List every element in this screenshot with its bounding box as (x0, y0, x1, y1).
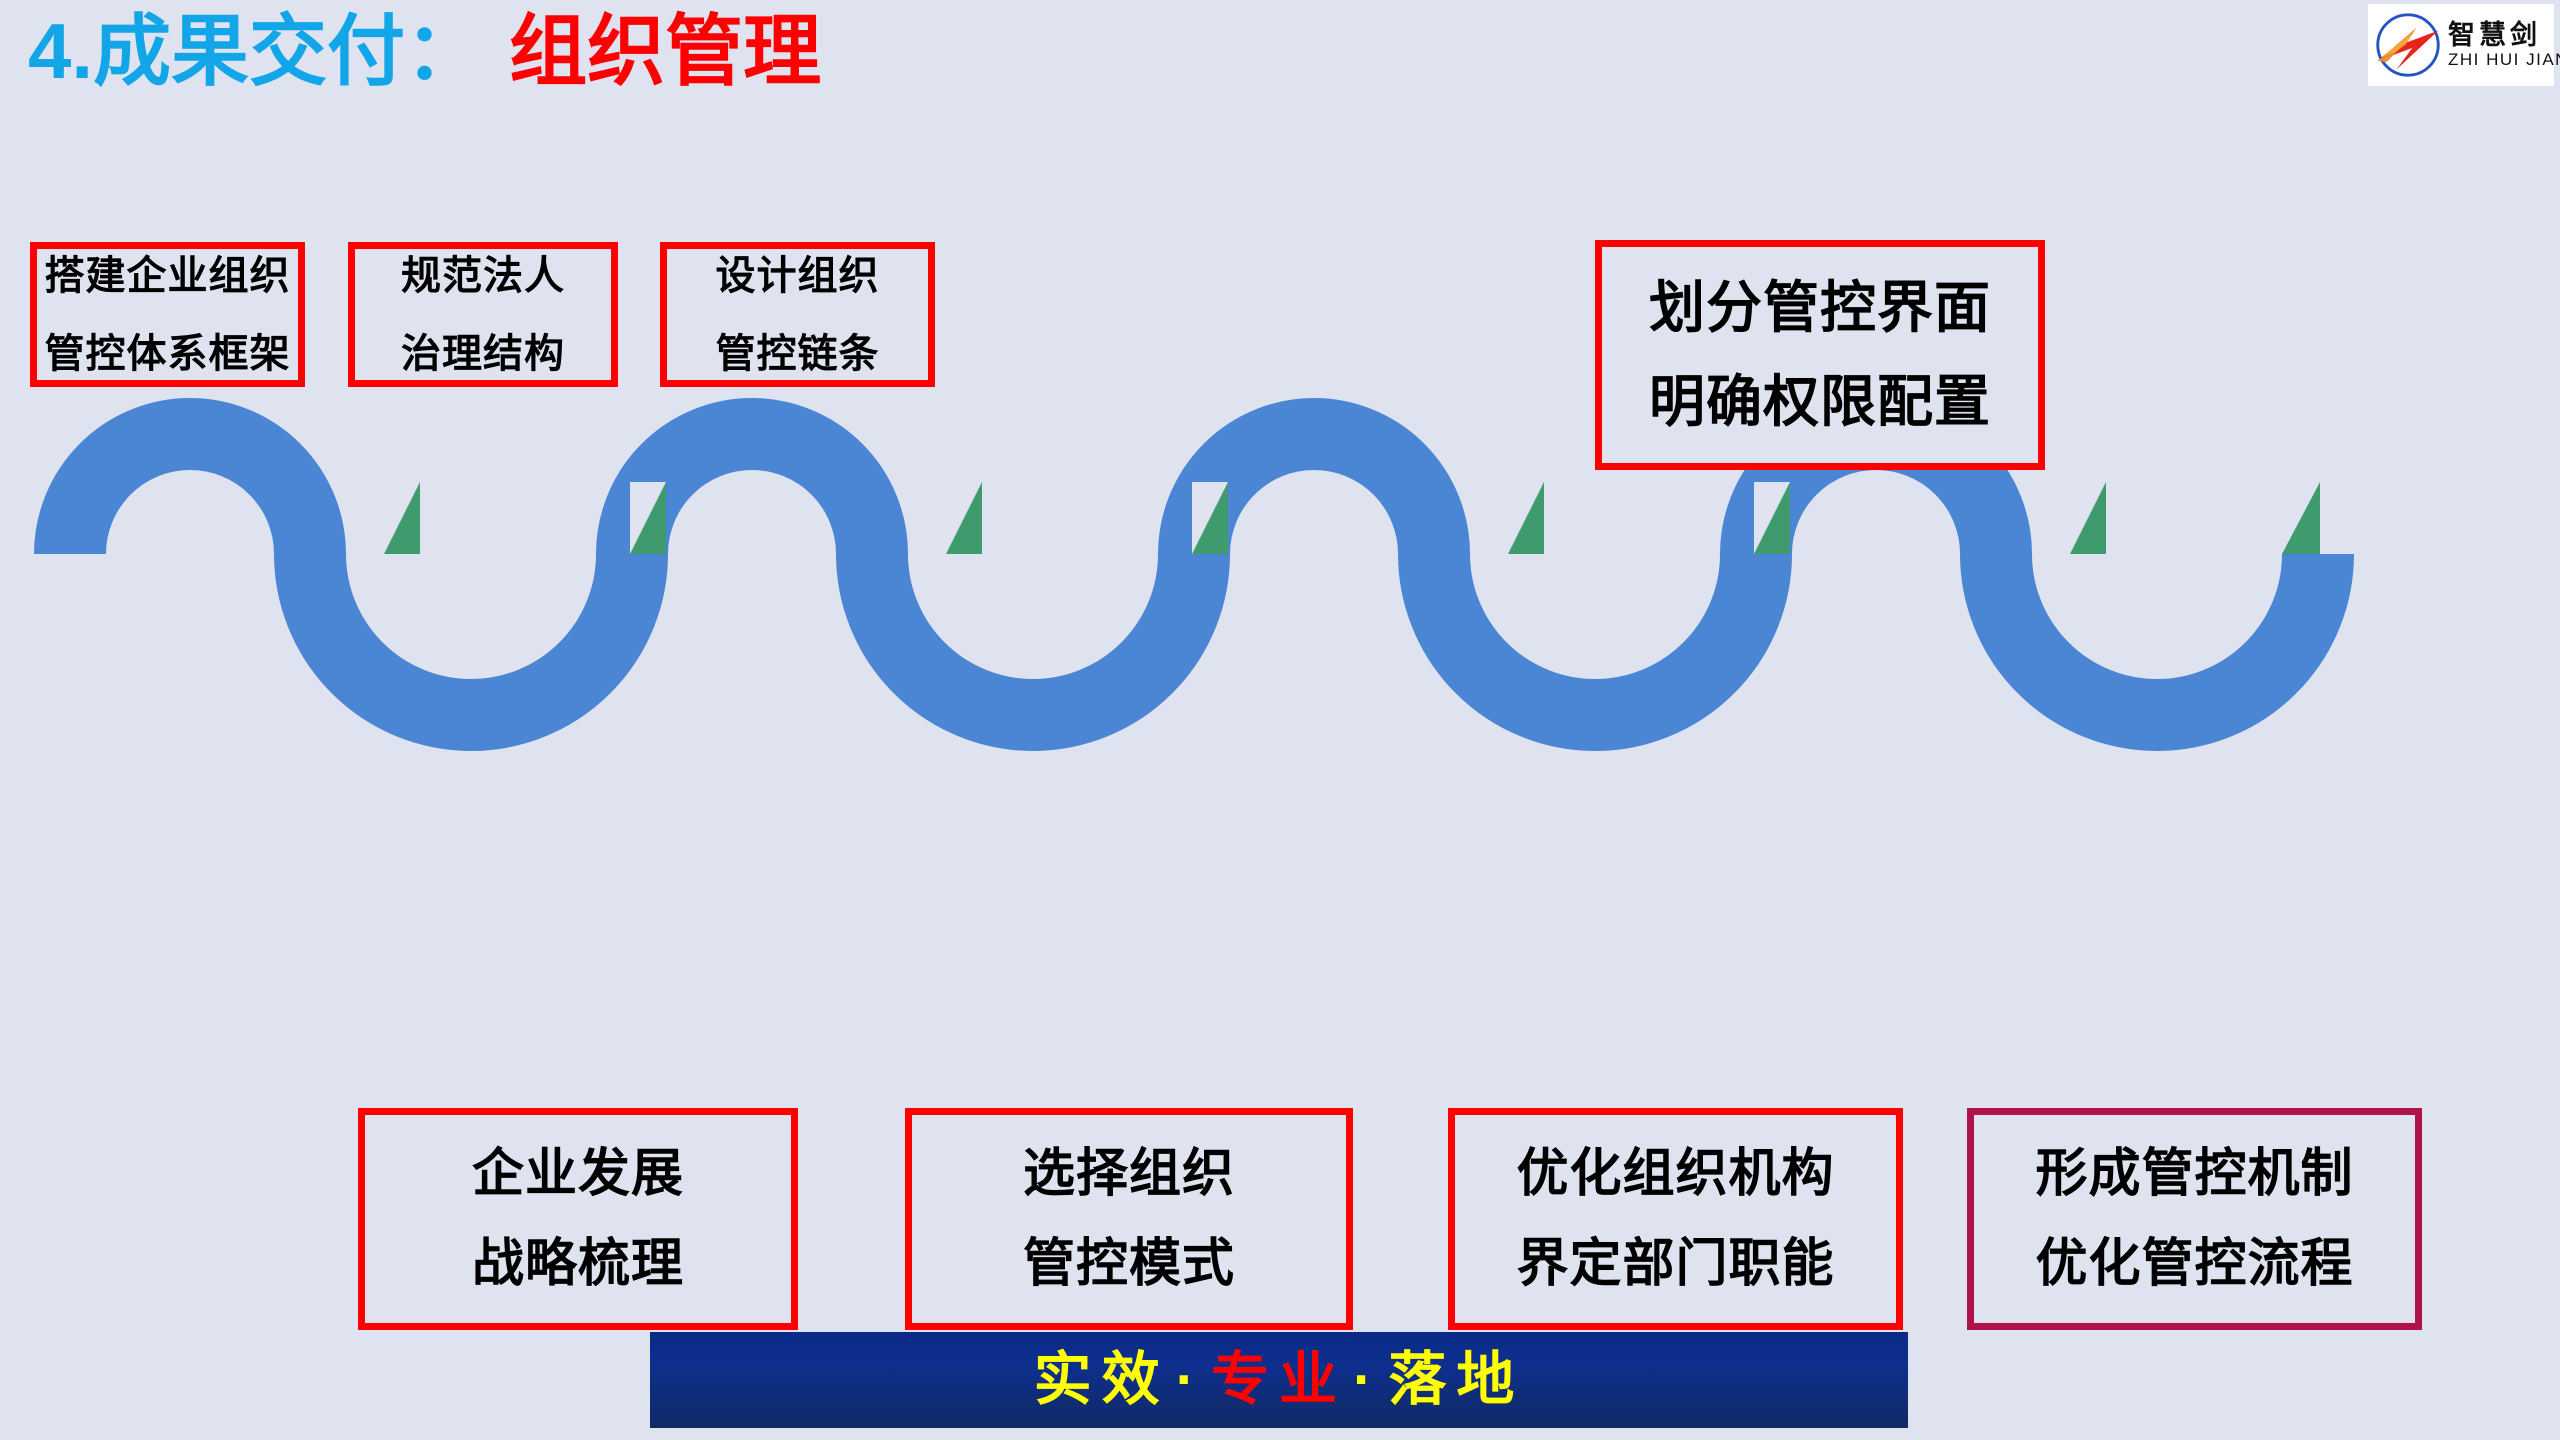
bottom-card-2-line2: 管控模式 (1023, 1238, 1235, 1290)
serpentine-wave-graphic (0, 300, 2560, 1100)
logo-wordmark: 智慧剑 ZHI HUI JIAN (2448, 20, 2560, 70)
tagline-word-3: 落地 (1388, 1347, 1524, 1412)
bottom-card-4-line1: 形成管控机制 (2035, 1148, 2353, 1200)
top-card-1-line1: 搭建企业组织 (45, 256, 291, 296)
bottom-card-4[interactable]: 形成管控机制 优化管控流程 (1967, 1108, 2422, 1330)
page-title-prefix: 4.成果交付： (28, 7, 483, 95)
tagline-word-1: 实效 (1034, 1347, 1170, 1412)
bottom-card-3-line1: 优化组织机构 (1516, 1148, 1834, 1200)
top-card-2[interactable]: 规范法人 治理结构 (348, 242, 618, 387)
top-card-4-line1: 划分管控界面 (1649, 280, 1991, 336)
company-logo: 智慧剑 ZHI HUI JIAN (2368, 4, 2554, 86)
top-card-1-line2: 管控体系框架 (45, 334, 291, 374)
slide-header: 4.成果交付：组织管理 智慧剑 ZHI HUI JIAN (0, 0, 2560, 110)
tagline-word-2: 专业 (1211, 1347, 1347, 1412)
top-card-4[interactable]: 划分管控界面 明确权限配置 (1595, 240, 2045, 470)
top-card-3-line2: 管控链条 (716, 334, 880, 374)
bottom-card-1-line1: 企业发展 (472, 1148, 684, 1200)
tagline-text: 实效·专业·落地 (1034, 1332, 1525, 1428)
logo-name-en: ZHI HUI JIAN (2448, 50, 2560, 70)
page-title-highlight: 组织管理 (509, 7, 821, 95)
tagline-separator-2: · (1347, 1347, 1388, 1412)
top-card-4-line2: 明确权限配置 (1649, 374, 1991, 430)
logo-name-cn: 智慧剑 (2448, 20, 2560, 50)
tagline-separator-1: · (1170, 1347, 1211, 1412)
top-card-2-line1: 规范法人 (401, 256, 565, 296)
top-card-2-line2: 治理结构 (401, 334, 565, 374)
top-card-3[interactable]: 设计组织 管控链条 (660, 242, 935, 387)
tagline-banner: 实效·专业·落地 (650, 1332, 1908, 1428)
bottom-card-2-line1: 选择组织 (1023, 1148, 1235, 1200)
lightning-bolt-in-circle-icon (2372, 9, 2444, 81)
bottom-card-2[interactable]: 选择组织 管控模式 (905, 1108, 1353, 1330)
bottom-card-1[interactable]: 企业发展 战略梳理 (358, 1108, 798, 1330)
top-card-3-line1: 设计组织 (716, 256, 880, 296)
bottom-card-1-line2: 战略梳理 (472, 1238, 684, 1290)
bottom-card-3-line2: 界定部门职能 (1516, 1238, 1834, 1290)
bottom-card-4-line2: 优化管控流程 (2035, 1238, 2353, 1290)
bottom-card-3[interactable]: 优化组织机构 界定部门职能 (1448, 1108, 1903, 1330)
page-title: 4.成果交付：组织管理 (28, 0, 821, 106)
top-card-1[interactable]: 搭建企业组织 管控体系框架 (30, 242, 305, 387)
